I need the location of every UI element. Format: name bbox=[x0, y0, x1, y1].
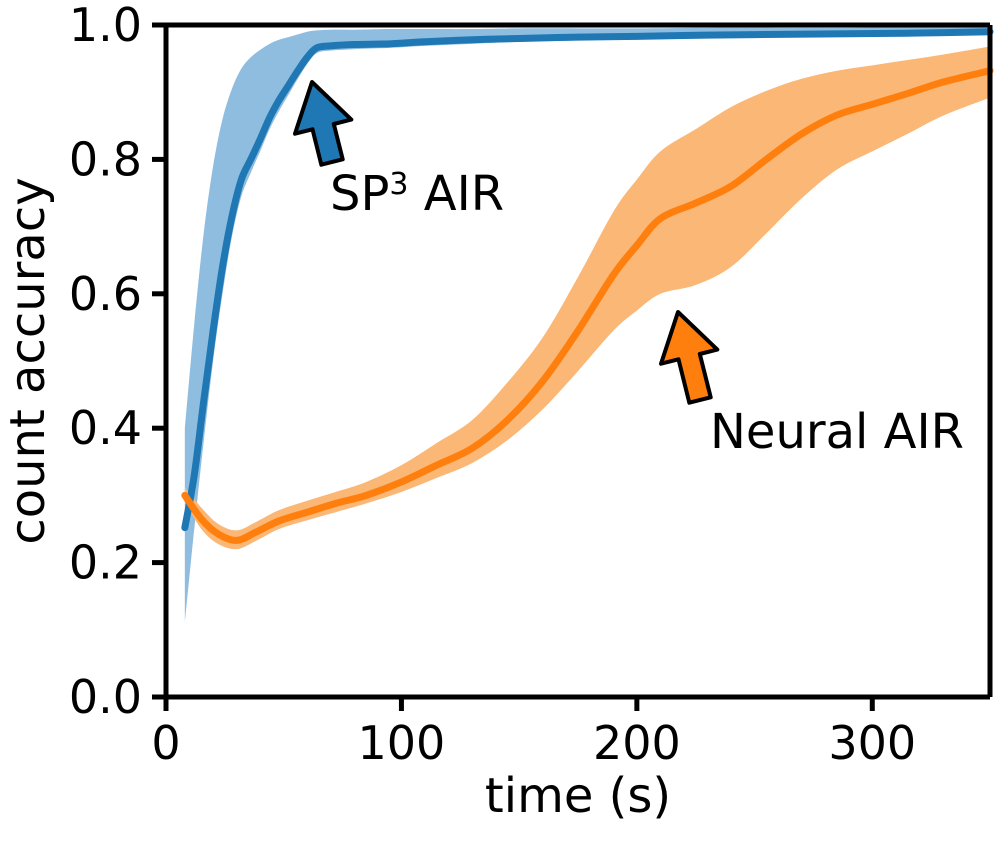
chart-page: 0.00.20.40.60.81.0 0100200300 count accu… bbox=[0, 0, 1004, 844]
neural-air-annotation-label: Neural AIR bbox=[710, 404, 964, 460]
x-tick-label: 100 bbox=[358, 716, 446, 770]
y-tick-label: 1.0 bbox=[69, 0, 142, 52]
line-chart-figure: 0.00.20.40.60.81.0 0100200300 count accu… bbox=[0, 0, 1004, 844]
y-tick-label: 0.8 bbox=[69, 132, 142, 186]
sp3-air-annotation-label: SP3 AIR bbox=[330, 166, 504, 222]
y-tick-label: 0.6 bbox=[69, 267, 142, 321]
y-tick-label: 0.4 bbox=[69, 401, 142, 455]
x-axis-label: time (s) bbox=[485, 768, 671, 824]
y-tick-label: 0.2 bbox=[69, 536, 142, 590]
x-tick-label: 300 bbox=[828, 716, 916, 770]
y-tick-label: 0.0 bbox=[69, 670, 142, 724]
x-tick-label: 200 bbox=[593, 716, 681, 770]
y-axis-label: count accuracy bbox=[0, 177, 56, 544]
x-tick-label: 0 bbox=[151, 716, 180, 770]
